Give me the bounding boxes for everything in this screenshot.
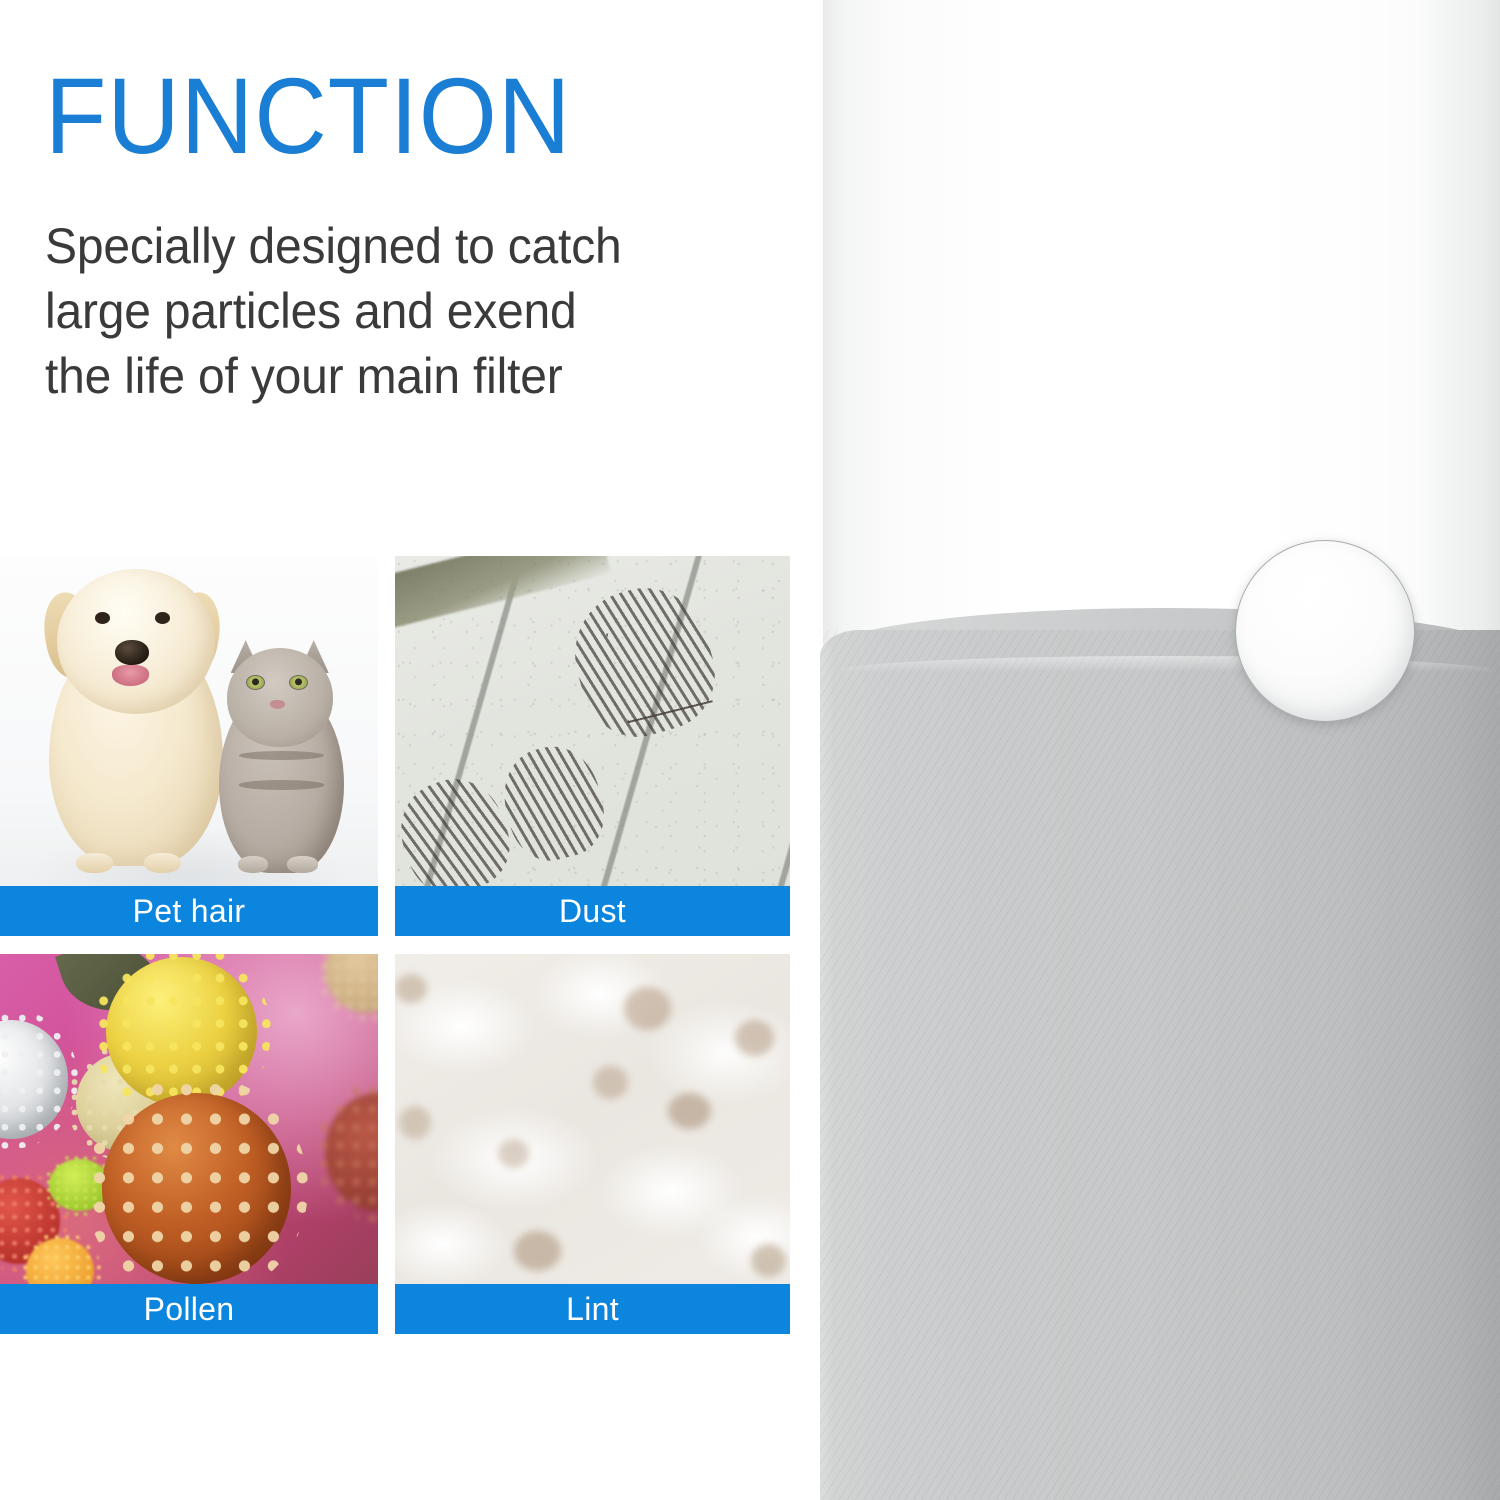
copy-block: FUNCTION Specially designed to catch lar…: [45, 62, 785, 409]
kitten-stripe: [239, 780, 324, 789]
white-lint-cotton-fluff-photo: [395, 954, 790, 1284]
particle-type-grid: Pet hair Dust: [0, 556, 790, 1346]
lint-fiber: [498, 1139, 530, 1169]
lint-fiber: [735, 1020, 775, 1056]
puppy-and-kitten-photo: [0, 556, 378, 886]
page-title: FUNCTION: [45, 62, 733, 170]
lint-fiber: [593, 1066, 629, 1099]
clip-specular-highlight: [1282, 563, 1353, 603]
subheadline-line-1: Specially designed to catch: [45, 214, 755, 279]
particle-tile-lint: Lint: [395, 954, 790, 1334]
particle-tile-pet-hair: Pet hair: [0, 556, 378, 936]
particle-label-pet-hair: Pet hair: [0, 886, 378, 936]
particle-label-pollen: Pollen: [0, 1284, 378, 1334]
lint-fiber: [395, 974, 427, 1004]
lint-fiber: [514, 1231, 561, 1271]
particle-label-dust: Dust: [395, 886, 790, 936]
pollen-grain-red-spiky: [102, 1093, 291, 1284]
dog-nose: [115, 640, 149, 665]
lint-fiber: [751, 1244, 787, 1277]
dusty-floorboards-footprints-photo: [395, 556, 790, 886]
pollen-grains-microscope-photo: [0, 954, 378, 1284]
lint-fiber: [399, 1106, 431, 1139]
particle-label-lint: Lint: [395, 1284, 790, 1334]
subheadline: Specially designed to catch large partic…: [45, 214, 755, 409]
pollen-grain-background: [325, 954, 378, 1013]
gray-prefilter-sleeve: [820, 630, 1500, 1500]
purifier-white-body: [823, 0, 1500, 670]
air-purifier-product-photo: [820, 0, 1500, 1500]
dog-eye-right: [155, 612, 170, 624]
particle-tile-dust: Dust: [395, 556, 790, 936]
kitten-head-shape: [227, 648, 333, 747]
kitten-eye-left: [246, 675, 265, 690]
dog-paw-left: [76, 853, 114, 873]
particle-tile-pollen: Pollen: [0, 954, 378, 1334]
kitten-paw-right: [287, 856, 317, 873]
kitten-eye-right: [289, 675, 308, 690]
pollen-grain-orange: [26, 1238, 94, 1284]
pollen-grain-background: [325, 1093, 378, 1212]
promo-panel: FUNCTION Specially designed to catch lar…: [0, 0, 1500, 1500]
lint-fiber: [668, 1093, 711, 1129]
kitten-stripe: [239, 751, 324, 760]
lint-fiber: [624, 987, 671, 1030]
subheadline-line-3: the life of your main filter: [45, 344, 755, 409]
kitten-paw-left: [238, 856, 268, 873]
subheadline-line-2: large particles and exend: [45, 279, 755, 344]
dog-paw-right: [144, 853, 182, 873]
pollen-grain-white: [0, 1020, 68, 1139]
round-white-prefilter-clip: [1235, 540, 1415, 722]
fabric-weave-texture: [820, 630, 1500, 1500]
dog-eye-left: [95, 612, 110, 624]
